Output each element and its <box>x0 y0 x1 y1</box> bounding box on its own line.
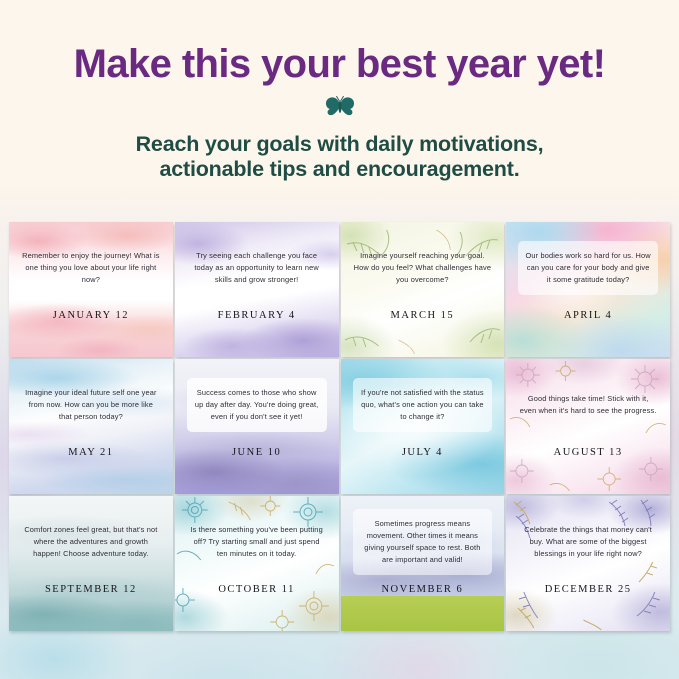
card-date: APRIL 4 <box>564 310 612 321</box>
card-quote: Is there something you've been putting o… <box>175 524 339 560</box>
card-quote: Imagine yourself reaching your goal. How… <box>341 250 505 286</box>
card-april[interactable]: Our bodies work so hard for us. How can … <box>506 222 670 357</box>
card-quote: Success comes to those who show up day a… <box>187 378 327 432</box>
card-grid: Remember to enjoy the journey! What is o… <box>9 222 670 631</box>
card-june[interactable]: Success comes to those who show up day a… <box>175 359 339 494</box>
card-november[interactable]: Sometimes progress means movement. Other… <box>341 496 505 631</box>
card-date: AUGUST 13 <box>554 447 623 458</box>
card-january[interactable]: Remember to enjoy the journey! What is o… <box>9 222 173 357</box>
card-date: MAY 21 <box>68 447 113 458</box>
card-date: NOVEMBER 6 <box>381 584 463 595</box>
card-quote: If you're not satisfied with the status … <box>353 378 493 432</box>
card-quote: Imagine your ideal future self one year … <box>9 387 173 423</box>
card-march[interactable]: Imagine yourself reaching your goal. How… <box>341 222 505 357</box>
card-quote: Comfort zones feel great, but that's not… <box>9 524 173 560</box>
card-date: JUNE 10 <box>232 447 281 458</box>
card-august[interactable]: Good things take time! Stick with it, ev… <box>506 359 670 494</box>
card-date: SEPTEMBER 12 <box>45 584 137 595</box>
page-title: Make this your best year yet! <box>0 44 679 84</box>
card-quote: Celebrate the things that money can't bu… <box>506 524 670 560</box>
card-september[interactable]: Comfort zones feel great, but that's not… <box>9 496 173 631</box>
card-july[interactable]: If you're not satisfied with the status … <box>341 359 505 494</box>
card-quote: Remember to enjoy the journey! What is o… <box>9 250 173 286</box>
butterfly-icon <box>0 96 679 122</box>
card-december[interactable]: Celebrate the things that money can't bu… <box>506 496 670 631</box>
card-date: OCTOBER 11 <box>218 584 295 595</box>
card-quote: Sometimes progress means movement. Other… <box>353 509 493 575</box>
card-october[interactable]: Is there something you've been putting o… <box>175 496 339 631</box>
card-date: JULY 4 <box>402 447 443 458</box>
card-quote: Our bodies work so hard for us. How can … <box>518 241 658 295</box>
card-date: DECEMBER 25 <box>545 584 632 595</box>
card-date: MARCH 15 <box>391 310 455 321</box>
card-february[interactable]: Try seeing each challenge you face today… <box>175 222 339 357</box>
subtitle-line-1: Reach your goals with daily motivations, <box>136 132 544 156</box>
card-quote: Good things take time! Stick with it, ev… <box>506 393 670 417</box>
page-subtitle: Reach your goals with daily motivations,… <box>70 132 610 183</box>
card-date: JANUARY 12 <box>53 310 129 321</box>
card-date: FEBRUARY 4 <box>218 310 296 321</box>
card-may[interactable]: Imagine your ideal future self one year … <box>9 359 173 494</box>
header: Make this your best year yet! Reach your… <box>0 0 679 183</box>
card-quote: Try seeing each challenge you face today… <box>175 250 339 286</box>
subtitle-line-2: actionable tips and encouragement. <box>160 157 520 181</box>
